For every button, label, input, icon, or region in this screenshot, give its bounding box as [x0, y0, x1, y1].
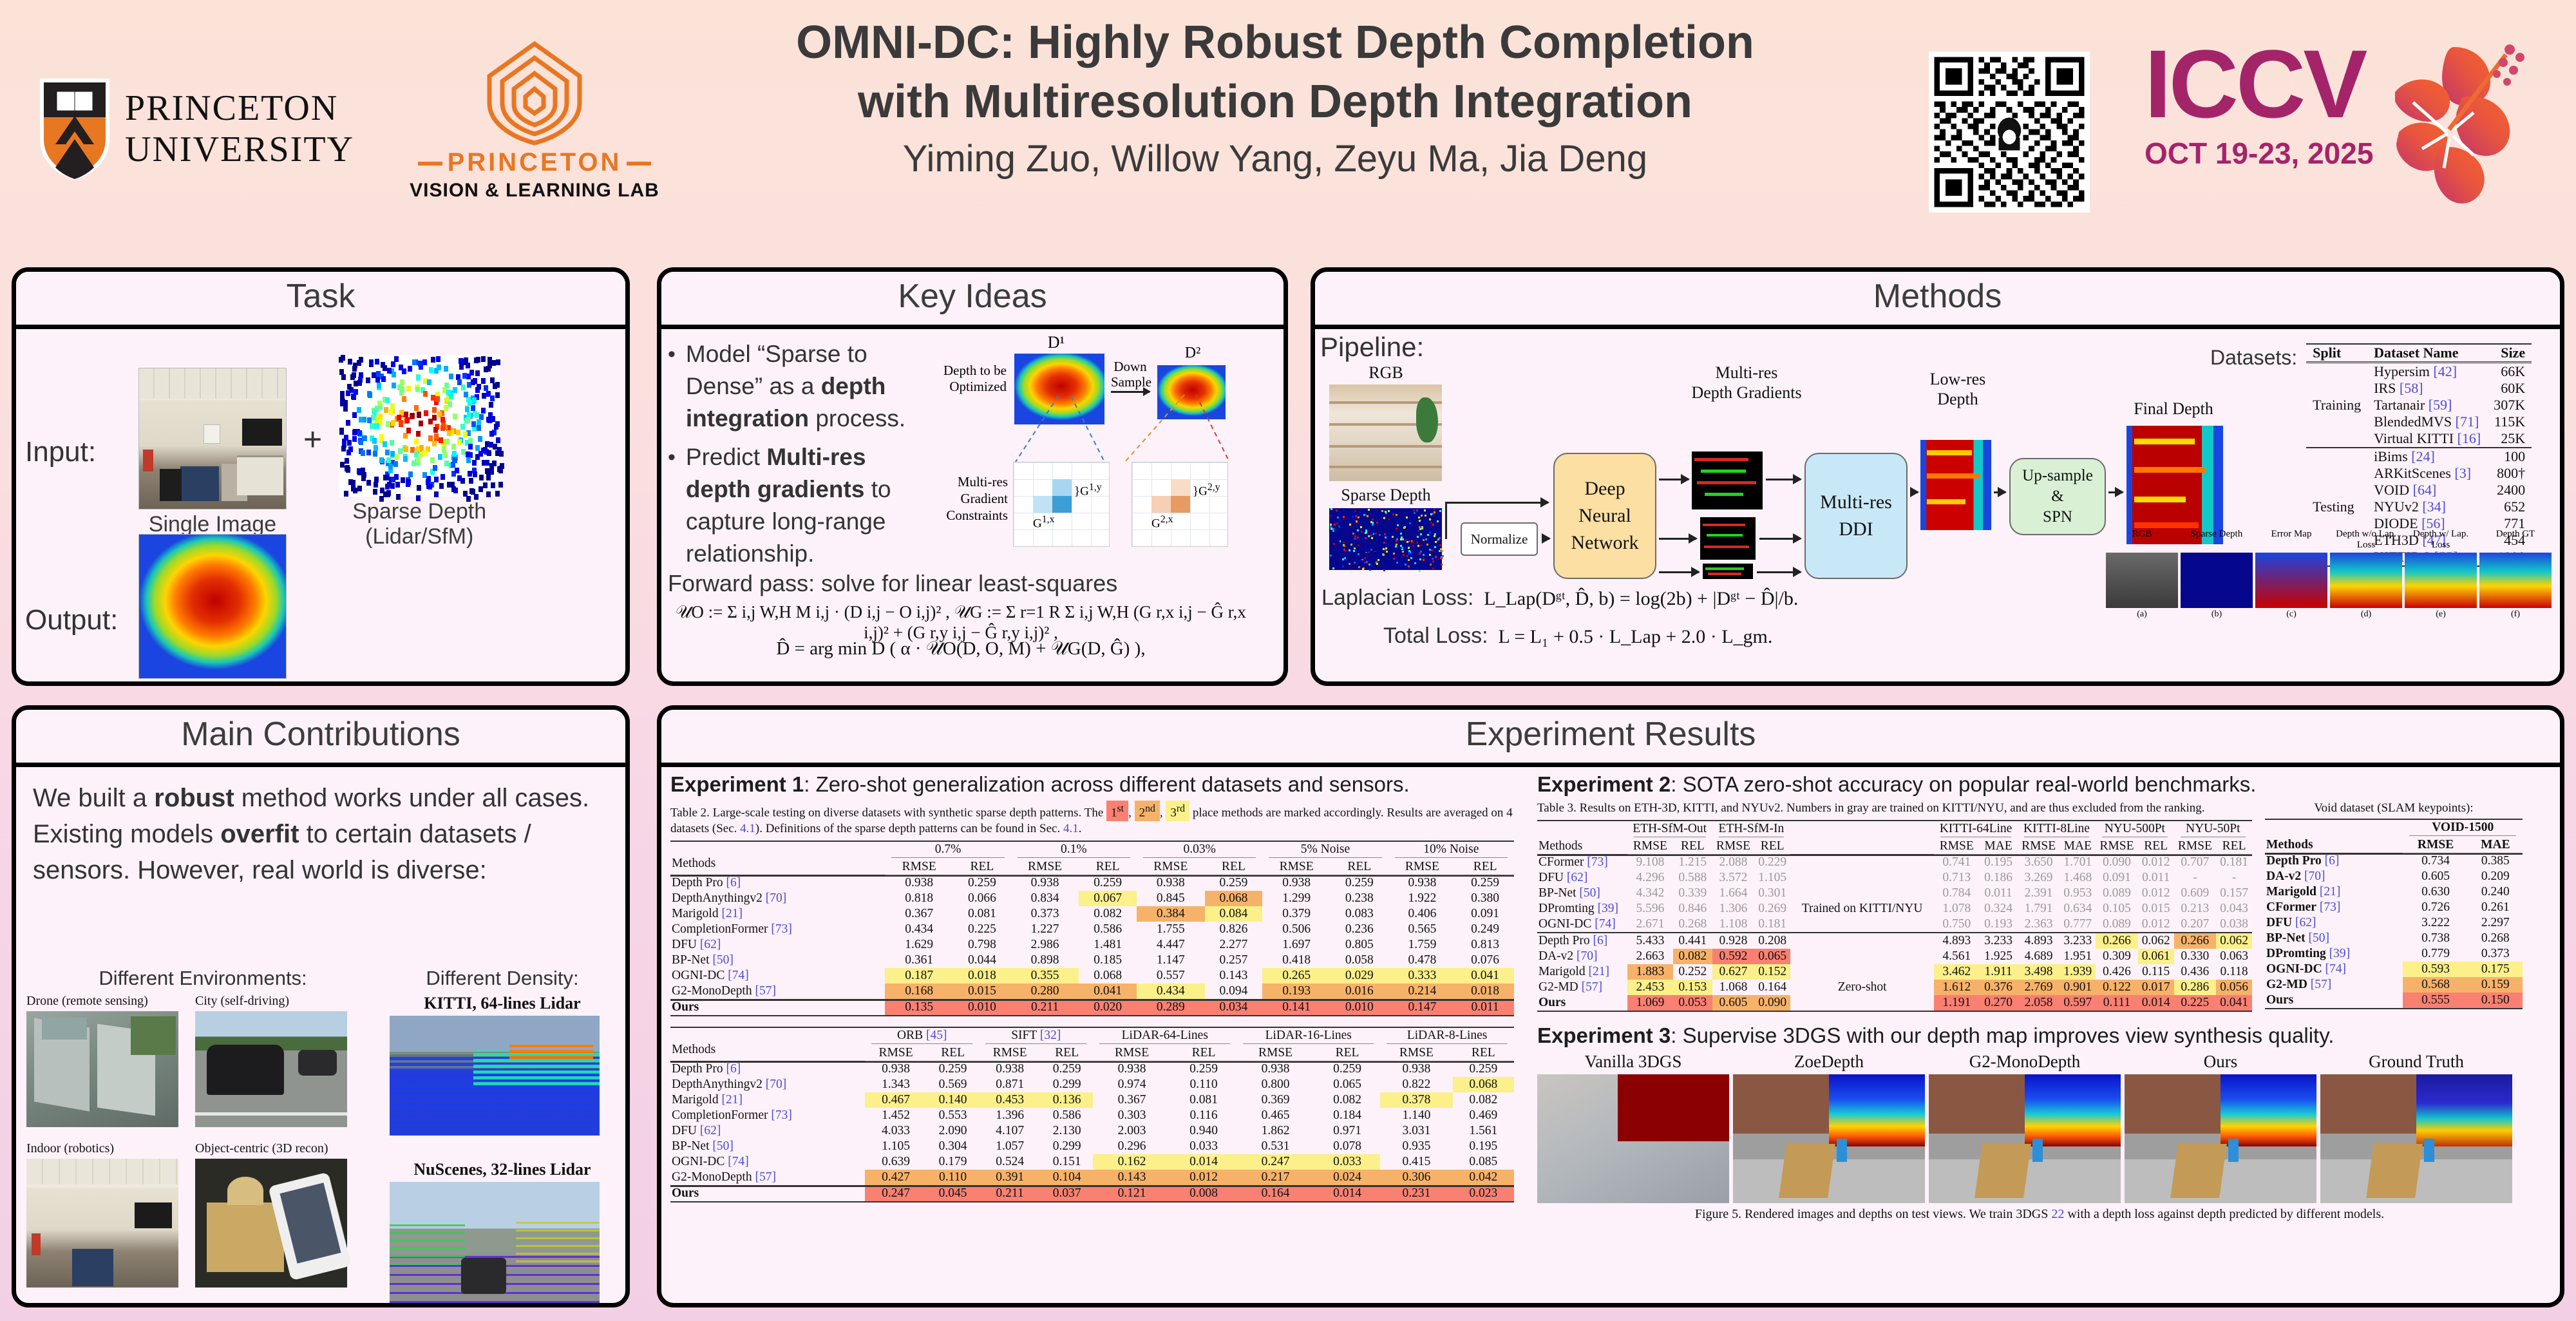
citation-ref[interactable]: [21]	[721, 907, 743, 920]
datasets-col-split: Split	[2306, 344, 2367, 363]
citation-ref[interactable]: [57]	[755, 1170, 776, 1184]
exp2-group-header: NYU-50Pt	[2174, 821, 2252, 839]
pvl-word-label: PRINCETON	[448, 148, 622, 176]
citation-ref[interactable]: [59]	[2429, 397, 2452, 413]
citation-ref[interactable]: [50]	[712, 1139, 734, 1153]
exp1-cell: 0.259	[1453, 1061, 1514, 1078]
exp1-metric-header: RMSE	[1262, 859, 1331, 875]
exp2-cell: 0.713	[1934, 870, 1979, 886]
exp1-metric-header: RMSE	[885, 859, 953, 875]
exp1-cell: 0.940	[1171, 1123, 1236, 1139]
exp2-cell: 0.017	[2138, 980, 2174, 995]
exp1-method-name: DFU [62]	[670, 937, 885, 953]
exp1-cell: 0.259	[1171, 1061, 1236, 1078]
strip-image	[2479, 553, 2552, 608]
table-row: G2-MD [57]2.4530.1531.0680.164Zero-shot1…	[1537, 980, 2252, 995]
datasets-row: iBims [24]100	[2306, 448, 2532, 465]
exp2-cell: 1.883	[1627, 964, 1673, 980]
exp1-method-name: DepthAnythingv2 [70]	[670, 1077, 865, 1092]
exp1-cell: 0.136	[1041, 1092, 1093, 1108]
exp2-cell: 3.650	[2018, 855, 2060, 871]
exp1-cell: 1.227	[1011, 922, 1079, 937]
exp1-cell: 0.121	[1093, 1186, 1171, 1202]
exp2-cell: 0.750	[1934, 917, 1979, 933]
exp1-methods-header: Methods	[670, 841, 885, 875]
exp1-cell: 0.469	[1453, 1108, 1514, 1123]
table-row: DFU [62]1.6290.7982.9861.4814.4472.2771.…	[670, 937, 1514, 953]
datasets-row: Virtual KITTI [16]25K	[2306, 430, 2532, 448]
exp1-metric-header: REL	[1331, 859, 1388, 875]
exp2-cell: 0.634	[2060, 901, 2096, 917]
void-cell: 0.150	[2468, 993, 2523, 1009]
exp2-group-header: ETH-SfM-Out	[1627, 821, 1712, 839]
citation-ref[interactable]: [50]	[712, 953, 734, 967]
exp1-method-name: Marigold [21]	[670, 906, 885, 922]
datasets-row: TrainingTartanair [59]307K	[2306, 397, 2532, 413]
exp1-label: Experiment 1	[670, 772, 804, 796]
exp2-cell: 1.078	[1934, 901, 1979, 917]
citation-ref[interactable]: [70]	[2304, 870, 2325, 883]
exp2-cell: 5.596	[1627, 901, 1673, 917]
citation-ref[interactable]: [3]	[2454, 465, 2471, 481]
task-caption-single-image: Single Image	[138, 512, 287, 537]
contrib-text-bold-1: robust	[154, 784, 234, 812]
exp1-cell: 0.082	[1453, 1092, 1514, 1108]
exp1-cell: 0.195	[1453, 1139, 1514, 1154]
pvl-princeton-text: PRINCETON	[399, 148, 670, 177]
poster-header: PRINCETON UNIVERSITY PRINCETON VISION & …	[0, 0, 2576, 251]
density-caption-kitti-rest: 64-lines Lidar	[477, 994, 581, 1012]
pipeline-spn-node: Up-sample & SPN	[2009, 458, 2106, 535]
exp1-cell: 0.082	[1079, 906, 1137, 922]
task-input-rgb-image	[138, 368, 287, 509]
exp1-metric-header: RMSE	[1388, 859, 1457, 875]
citation-ref[interactable]: [42]	[2433, 363, 2457, 379]
panel-key-ideas: Key Ideas • Model “Sparse to Dense” as a…	[657, 267, 1288, 686]
poster-title-line1: OMNI-DC: Highly Robust Depth Completion	[670, 13, 1880, 72]
exp1-cell: 0.094	[1205, 984, 1263, 1000]
void-cell: 0.555	[2403, 993, 2468, 1009]
exp1-cell: 2.277	[1205, 937, 1263, 953]
exp1-cell: 0.236	[1331, 922, 1388, 937]
citation-ref[interactable]: [39]	[2329, 947, 2351, 960]
strip-image	[2330, 553, 2402, 608]
exp1-cell: 1.629	[885, 937, 953, 953]
strip-sub: (e)	[2405, 609, 2477, 620]
exp1-cell: 0.333	[1388, 968, 1457, 984]
strip-sub: (d)	[2330, 609, 2402, 620]
diagram-grid-2: }G2,y G2,x	[1132, 462, 1228, 547]
exp1-cell: 1.140	[1380, 1108, 1452, 1123]
table-row: Marigold [21]0.3670.0810.3730.0820.3840.…	[670, 906, 1514, 922]
panel-title-task: Task	[16, 272, 625, 329]
env-caption-drone: Drone (remote sensing)	[26, 994, 178, 1009]
citation-ref[interactable]: [24]	[2411, 448, 2435, 464]
exp1-cell: 0.081	[1171, 1092, 1236, 1108]
exp2-cell: 3.233	[1979, 933, 2018, 949]
exp2-cell: 2.663	[1627, 949, 1673, 964]
strip-image	[2106, 553, 2178, 608]
exp2-cell: 0.225	[2174, 995, 2217, 1011]
exp2-metric-header: REL	[2216, 839, 2252, 855]
exp1-cell: 0.380	[1456, 891, 1514, 906]
table-row: DFU [62]4.2960.5883.5721.1050.7130.1863.…	[1537, 870, 2252, 886]
exp1-cell: 0.639	[865, 1154, 927, 1170]
exp1-cell: 0.391	[979, 1170, 1041, 1186]
exp1-cell: 0.247	[1236, 1154, 1314, 1170]
citation-ref[interactable]: [58]	[2400, 380, 2423, 396]
exp2-cell: 0.426	[2096, 964, 2138, 980]
citation-ref[interactable]: [16]	[2458, 430, 2481, 446]
exp1-cell: 0.367	[1093, 1092, 1171, 1108]
table-row: Depth Pro [6]0.9380.2590.9380.2590.9380.…	[670, 875, 1514, 891]
exp1-method-name: Depth Pro [6]	[670, 875, 885, 891]
exp1-cell: 0.465	[1236, 1108, 1314, 1123]
datasets-split-cell: Training	[2306, 397, 2367, 413]
exp2-metric-header: REL	[1673, 839, 1712, 855]
exp1-cell: 1.922	[1388, 891, 1457, 906]
exp2-cell: 0.164	[1754, 980, 1790, 995]
exp2-table-caption: Table 3. Results on ETH-3D, KITTI, and N…	[1537, 801, 2252, 816]
exp2-cell: 0.118	[2216, 964, 2252, 980]
diagram-grid-1: }G1,y G1,x	[1013, 462, 1110, 547]
void-cell: 0.568	[2403, 977, 2468, 993]
exp1-method-name: DFU [62]	[670, 1123, 865, 1139]
void-method-name: DPromting [39]	[2265, 946, 2403, 962]
citation-ref[interactable]: [34]	[2422, 499, 2446, 515]
exp1-method-name: Ours	[670, 1186, 865, 1202]
citation-ref[interactable]: [73]	[771, 1108, 792, 1122]
citation-ref[interactable]: [62]	[700, 1124, 721, 1137]
datasets-split-cell	[2306, 465, 2367, 482]
exp2-cell: 3.233	[2060, 933, 2096, 949]
exp1-cell: 0.822	[1380, 1077, 1452, 1092]
exp1-cell: 0.373	[1011, 906, 1079, 922]
citation-ref[interactable]: [6]	[1593, 934, 1608, 947]
key-idea-bullet-1: • Model “Sparse to Dense” as a depth int…	[668, 338, 925, 435]
iccv-logo: ICCV OCT 19-23, 2025	[2145, 35, 2557, 216]
exp1-table-caption: Table 2. Large-scale testing on diverse …	[670, 801, 1514, 837]
void-table-title: Void dataset (SLAM keypoints):	[2265, 801, 2523, 816]
exp2-cell: 0.846	[1673, 901, 1712, 917]
exp1-cell: 0.143	[1093, 1170, 1171, 1186]
exp1-cell: 0.415	[1380, 1154, 1452, 1170]
exp1-cell: 0.081	[953, 906, 1011, 922]
datasets-size-cell: 100	[2487, 448, 2532, 465]
citation-ref[interactable]: [21]	[1588, 965, 1609, 978]
strip-label: RGB	[2106, 529, 2178, 551]
methods-pipeline-diagram: RGB Sparse Depth Normalize Deep Neural N…	[1321, 363, 2223, 575]
exp3-render-image	[1733, 1074, 1925, 1203]
env-image-object	[195, 1159, 347, 1288]
datasets-row: TestingNYUv2 [34]652	[2306, 499, 2532, 515]
citation-ref[interactable]: [6]	[726, 876, 741, 889]
datasets-split-cell: Testing	[2306, 499, 2367, 515]
exp1-metric-header: REL	[1456, 859, 1514, 875]
exp1-cell: 0.259	[1314, 1061, 1380, 1078]
exp2-metric-header: MAE	[1979, 839, 2018, 855]
citation-ref[interactable]: [73]	[771, 922, 792, 936]
exp2-cell: 1.306	[1712, 901, 1755, 917]
void-method-name: DA-v2 [70]	[2265, 869, 2403, 884]
exp2-cell: 2.058	[2018, 995, 2060, 1011]
experiment-3-block: Experiment 3: Supervise 3DGS with our de…	[1537, 1023, 2542, 1222]
exp2-cell: 1.925	[1979, 949, 2018, 964]
citation-ref[interactable]: [62]	[700, 938, 721, 951]
citation-ref[interactable]: [73]	[1587, 855, 1608, 869]
pipeline-ddi-node: Multi-res DDI	[1804, 453, 1908, 579]
void-cell: 2.297	[2468, 915, 2523, 931]
citation-ref[interactable]: [74]	[1595, 917, 1616, 931]
table-row: CompletionFormer [73]0.4340.2251.2270.58…	[670, 922, 1514, 937]
exp1-cell: 0.187	[885, 968, 953, 984]
exp2-cell: 0.061	[2138, 949, 2174, 964]
task-output-label: Output:	[25, 604, 138, 636]
datasets-split-cell	[2306, 413, 2367, 430]
exp1-cell: 0.355	[1011, 968, 1079, 984]
exp2-cell: 0.152	[1754, 964, 1790, 980]
void-cell: 0.593	[2403, 962, 2468, 977]
citation-ref[interactable]: [21]	[2320, 885, 2341, 898]
citation-ref[interactable]: [74]	[728, 969, 749, 982]
exp2-zeroshot-note: Zero-shot	[1790, 980, 1934, 995]
datasets-split-cell	[2306, 380, 2367, 397]
void-cell: 0.159	[2468, 977, 2523, 993]
qr-code-icon	[1929, 52, 2090, 213]
citation-ref[interactable]: [57]	[755, 984, 776, 998]
exp2-group-header: KITTI-8Line	[2018, 821, 2096, 839]
exp2-cell: 0.056	[2216, 980, 2252, 995]
exp1-cell: 0.845	[1137, 891, 1205, 906]
exp2-cell: 0.186	[1979, 870, 2018, 886]
exp2-cell: 0.605	[1712, 995, 1755, 1011]
exp2-method-name: OGNI-DC [74]	[1537, 917, 1627, 933]
exp1-cell: 0.078	[1314, 1139, 1380, 1154]
task-caption-sparse-1: Sparse Depth	[339, 499, 500, 524]
void-cell: 0.268	[2468, 931, 2523, 946]
pipeline-sparse-image	[1329, 508, 1442, 570]
panel-title-methods: Methods	[1315, 272, 2560, 329]
void-method-name: DFU [62]	[2265, 915, 2403, 931]
pipeline-grad-img-3	[1703, 564, 1753, 579]
void-methods-header: Methods	[2265, 819, 2403, 853]
exp1-cell: 0.361	[885, 953, 953, 968]
exp2-cell: 0.330	[2174, 949, 2217, 964]
exp3-render-image	[1537, 1074, 1729, 1203]
citation-ref[interactable]: [32]	[1040, 1029, 1061, 1042]
exp2-cell: 0.089	[2096, 917, 2138, 933]
void-cell: 0.373	[2468, 946, 2523, 962]
exp1-metric-header: RMSE	[865, 1045, 927, 1061]
exp1-cell: 0.378	[1380, 1092, 1452, 1108]
citation-ref[interactable]: [62]	[1567, 871, 1588, 884]
datasets-row: VOID [64]2400	[2306, 482, 2532, 499]
void-cell: 0.209	[2468, 869, 2523, 884]
datasets-row: Hypersim [42]66K	[2306, 363, 2532, 381]
badge-3rd: 3rd	[1166, 801, 1189, 821]
exp3-cap-ref[interactable]: 22	[2051, 1207, 2064, 1221]
table-row: Depth Pro [6]0.7340.385	[2265, 853, 2523, 870]
exp2-cell: 0.597	[2060, 995, 2096, 1011]
strip-label: Depth GT	[2479, 529, 2552, 551]
exp1-cell: 1.299	[1262, 891, 1331, 906]
table-row: Ours0.1350.0100.2110.0200.2890.0340.1410…	[670, 1000, 1514, 1016]
exp1-group-header: 0.03%	[1137, 841, 1262, 859]
princeton-line2: UNIVERSITY	[125, 129, 354, 170]
exp2-cell: 0.041	[2216, 995, 2252, 1011]
exp3-render-image	[2125, 1074, 2316, 1203]
void-cell: 0.738	[2403, 931, 2468, 946]
datasets-name-cell: NYUv2 [34]	[2367, 499, 2487, 515]
table-row: Depth Pro [6]5.4330.4410.9280.2084.8933.…	[1537, 933, 2252, 949]
exp2-method-name: BP-Net [50]	[1537, 886, 1627, 901]
citation-ref[interactable]: [39]	[1598, 902, 1619, 915]
exp1-metric-header: RMSE	[1380, 1045, 1452, 1061]
citation-ref[interactable]: [57]	[2311, 978, 2332, 991]
env-caption-object: Object-centric (3D recon)	[195, 1141, 347, 1156]
exp2-cell: 0.038	[2216, 917, 2252, 933]
exp1-cell: 0.531	[1236, 1139, 1314, 1154]
citation-ref[interactable]: [70]	[1577, 949, 1598, 963]
exp1-cell: 2.003	[1093, 1123, 1171, 1139]
exp2-method-name: Depth Pro [6]	[1537, 933, 1627, 949]
exp2-cell: 1.701	[2060, 855, 2096, 871]
exp1-cell: 0.068	[1079, 968, 1137, 984]
exp2-cell: 1.069	[1627, 995, 1673, 1011]
exp1-cell: 0.259	[1205, 875, 1263, 891]
exp2-cell: 1.105	[1754, 870, 1790, 886]
exp1-cell: 0.506	[1262, 922, 1331, 937]
exp1-cell: 0.259	[1331, 875, 1388, 891]
methods-losses: Laplacian Loss: L_Lap(Dᵍᵗ, D̂, b) = log(…	[1321, 585, 2094, 649]
citation-ref[interactable]: [70]	[766, 1078, 787, 1091]
exp3-text: : Supervise 3DGS with our depth map impr…	[1671, 1023, 2334, 1047]
exp2-cell: 0.082	[1673, 949, 1712, 964]
void-cell: 0.175	[2468, 962, 2523, 977]
citation-ref[interactable]: [6]	[2325, 854, 2340, 868]
exp1-sec-ref1[interactable]: 4.1	[740, 822, 755, 835]
exp2-cell: 0.777	[2060, 917, 2096, 933]
void-method-name: G2-MD [57]	[2265, 977, 2403, 993]
exp1-cell: 0.083	[1331, 906, 1388, 922]
exp1-method-name: CompletionFormer [73]	[670, 922, 885, 937]
exp1-metric-header: REL	[953, 859, 1011, 875]
citation-ref[interactable]: [57]	[1582, 980, 1603, 994]
exp1-cell: 0.379	[1262, 906, 1331, 922]
citation-ref[interactable]: [50]	[1579, 886, 1600, 900]
exp1-cell: 0.826	[1205, 922, 1263, 937]
exp1-cell: 0.011	[1456, 1000, 1514, 1016]
citation-ref[interactable]: [71]	[2456, 413, 2479, 430]
exp2-cell: 4.893	[1934, 933, 1979, 949]
exp3-label: Experiment 3	[1537, 1023, 1671, 1047]
exp1-cell: 0.231	[1380, 1186, 1452, 1202]
pipeline-final-image	[2126, 426, 2223, 544]
panel-methods: Methods Pipeline: RGB Sparse Depth Norma…	[1311, 267, 2564, 686]
datasets-split-cell	[2306, 482, 2367, 499]
exp1-cell: 0.524	[979, 1154, 1041, 1170]
table-row: OGNI-DC [74]0.5930.175	[2265, 962, 2523, 977]
citation-ref[interactable]: [6]	[726, 1062, 741, 1076]
exp1-cell: 4.033	[865, 1123, 927, 1139]
exp1-cell: 0.938	[1380, 1061, 1452, 1078]
citation-ref[interactable]: [74]	[728, 1155, 749, 1168]
exp1-cell: 4.107	[979, 1123, 1041, 1139]
exp2-cell: 0.063	[2216, 949, 2252, 964]
datasets-name-cell: Virtual KITTI [16]	[2367, 430, 2487, 448]
exp2-cell: 0.741	[1934, 855, 1979, 871]
exp1-cell: 0.012	[1171, 1170, 1236, 1186]
citation-ref[interactable]: [73]	[2320, 900, 2341, 914]
exp2-metric-header: RMSE	[2174, 839, 2217, 855]
density-caption-nuscenes-bold: NuScenes,	[413, 1160, 486, 1179]
exp1-cell: 0.179	[927, 1154, 979, 1170]
table-row: Ours0.2470.0450.2110.0370.1210.0080.1640…	[670, 1186, 1514, 1202]
exp1-metric-header: REL	[1453, 1045, 1514, 1061]
exp1-cell: 0.058	[1331, 953, 1388, 968]
exp1-cell: 0.014	[1314, 1186, 1380, 1202]
exp1-cell: 1.343	[865, 1077, 927, 1092]
exp1-cell: 0.042	[1453, 1170, 1514, 1186]
princeton-wordmark: PRINCETON UNIVERSITY	[125, 88, 354, 170]
void-cell: 0.261	[2468, 900, 2523, 915]
exp1-cell: 0.076	[1456, 953, 1514, 968]
citation-ref[interactable]: [70]	[766, 891, 787, 905]
qr-code[interactable]	[1929, 52, 2090, 213]
exp1-cell: 2.130	[1041, 1123, 1093, 1139]
datasets-label: Datasets:	[2210, 343, 2297, 370]
strip-label: Error Map	[2255, 529, 2327, 551]
exp1-cell: 0.974	[1093, 1077, 1171, 1092]
datasets-row: IRS [58]60K	[2306, 380, 2532, 397]
exp2-methods-header: Methods	[1537, 821, 1627, 855]
citation-ref[interactable]: [74]	[2325, 962, 2347, 976]
exp1-cell: 0.018	[953, 968, 1011, 984]
exp2-cell: 0.324	[1979, 901, 2018, 917]
citation-ref[interactable]: [64]	[2413, 482, 2437, 498]
total-loss-label: Total Loss:	[1383, 623, 1488, 649]
table-row: DA-v2 [70]2.6630.0820.5920.0654.5611.925…	[1537, 949, 2252, 964]
citation-ref[interactable]: [45]	[926, 1029, 947, 1042]
datasets-name-cell: ARKitScenes [3]	[2367, 465, 2487, 482]
exp1-method-name: OGNI-DC [74]	[670, 968, 885, 984]
exp1-sec-ref2[interactable]: 4.1	[1063, 822, 1079, 835]
pipeline-dnn-node: Deep Neural Network	[1553, 453, 1656, 579]
exp2-cell: 0.707	[2174, 855, 2217, 871]
panel-experiment-results: Experiment Results Experiment 1: Zero-sh…	[657, 705, 2564, 1307]
exp1-cell: 0.805	[1331, 937, 1388, 953]
void-group-header: VOID-1500	[2403, 819, 2523, 837]
citation-ref[interactable]: [62]	[2295, 916, 2316, 929]
exp1-metric-header: REL	[1079, 859, 1137, 875]
exp1-cell: 0.478	[1388, 953, 1457, 968]
strip-label: Depth w/o Lap. Loss	[2330, 529, 2402, 551]
exp2-cell: 0.062	[2216, 933, 2252, 949]
citation-ref[interactable]: [21]	[721, 1093, 743, 1107]
citation-ref[interactable]: [50]	[2309, 931, 2330, 945]
exp1-cell: 0.140	[927, 1092, 979, 1108]
key-ideas-equation-1: 𝒰O := Σ i,j W,H M i,j · (D i,j − O i,j)²…	[661, 602, 1260, 643]
key-idea-bullet-2: • Predict Multi-res depth gradients to c…	[668, 441, 925, 570]
exp1-cell: 0.798	[953, 937, 1011, 953]
exp1-cell: 0.211	[1011, 1000, 1079, 1016]
exp1-cell: 0.434	[885, 922, 953, 937]
exp2-cell: 4.342	[1627, 886, 1673, 901]
table-row: CFormer [73]9.1081.2152.0880.2290.7410.1…	[1537, 855, 2252, 871]
datasets-size-cell: 652	[2487, 499, 2532, 515]
pvl-shield-icon	[477, 39, 592, 148]
exp1-cell: 0.800	[1236, 1077, 1314, 1092]
